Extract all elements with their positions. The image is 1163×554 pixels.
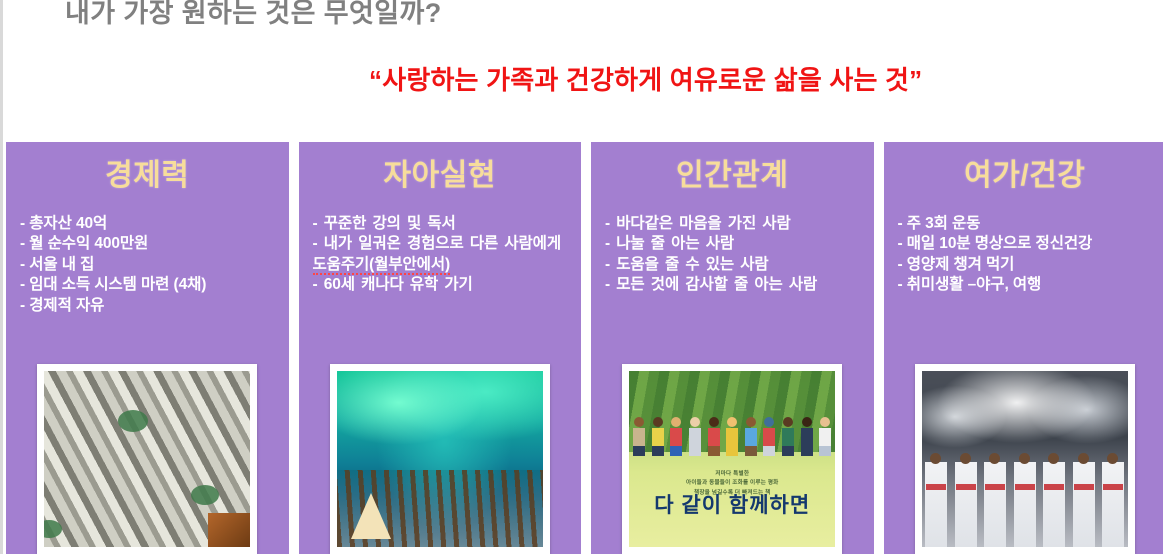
list-item: - 월 순수익 400만원 [20, 234, 279, 255]
list-item: - 나눌 줄 아는 사람 [605, 234, 864, 255]
panel-title-finance: 경제력 [6, 160, 289, 192]
list-item: - 바다같은 마음을 가진 사람 [605, 214, 864, 235]
list-item: - 경제적 자유 [20, 296, 279, 317]
book-blurb-line: 저마다 특별한 [629, 470, 835, 480]
goal-panel-self-actualization[interactable]: 자아실현 - 꾸준한 강의 및 독서 - 내가 일궈온 경험으로 다른 사람에게… [299, 142, 582, 554]
childrens-book-cover-photo: 저마다 특별한 아이들과 동물들이 조화를 이루는 평화 책장을 넘길수록 더 … [629, 371, 835, 547]
book-children-art [633, 410, 831, 456]
panel-title-relationships: 인간관계 [591, 160, 874, 192]
list-item: - 취미생활 –야구, 여행 [898, 275, 1157, 296]
photo-frame-relationships[interactable]: 저마다 특별한 아이들과 동물들이 조화를 이루는 평화 책장을 넘길수록 더 … [622, 364, 842, 554]
goal-panel-leisure-health[interactable]: 여가/건강 - 주 3회 운동 - 매일 10분 명상으로 정신건강 - 영양제… [884, 142, 1163, 554]
aurora-borealis-photo [337, 371, 543, 547]
goal-panel-relationships[interactable]: 인간관계 - 바다같은 마음을 가진 사람 - 나눌 줄 아는 사람 - 도움을… [591, 142, 874, 554]
photo-frame-finance[interactable] [37, 364, 257, 554]
book-blurb-line: 아이들과 동물들이 조화를 이루는 평화 [629, 479, 835, 489]
baseball-players-art [922, 438, 1128, 547]
photo-frame-leisure-health[interactable] [915, 364, 1135, 554]
list-item: - 매일 10분 명상으로 정신건강 [898, 234, 1157, 255]
stack-of-dollar-bills-photo [44, 371, 250, 547]
baseball-team-celebration-photo [922, 371, 1128, 547]
panel-body-finance: - 총자산 40억 - 월 순수익 400만원 - 서울 내 집 - 임대 소득… [20, 214, 279, 317]
panel-body-relationships: - 바다같은 마음을 가진 사람 - 나눌 줄 아는 사람 - 도움을 줄 수 … [605, 214, 864, 296]
slide-header: 내가 가장 원하는 것은 무엇일까? “사랑하는 가족과 건강하게 여유로운 삶… [3, 0, 1163, 142]
slide-quote: “사랑하는 가족과 건강하게 여유로운 삶을 사는 것” [369, 60, 922, 97]
photo-frame-self-actualization[interactable] [330, 364, 550, 554]
panel-body-leisure-health: - 주 3회 운동 - 매일 10분 명상으로 정신건강 - 영양제 챙겨 먹기… [898, 214, 1157, 296]
goal-panel-finance[interactable]: 경제력 - 총자산 40억 - 월 순수익 400만원 - 서울 내 집 - 임… [6, 142, 289, 554]
list-item: - 도움을 줄 수 있는 사람 [605, 255, 864, 276]
page-title: 내가 가장 원하는 것은 무엇일까? [65, 0, 442, 30]
book-cover-title: 다 같이 함께하면 [629, 489, 835, 519]
list-item-spellchecked: - 내가 일궈온 경험으로 다른 사람에게 도움주기(월부안에서) [313, 234, 572, 275]
panel-body-self-actualization: - 꾸준한 강의 및 독서 - 내가 일궈온 경험으로 다른 사람에게 도움주기… [313, 214, 572, 296]
spellcheck-underline: 도움주기(월부안에서) [313, 256, 451, 275]
list-item-text: - 내가 일궈온 경험으로 다른 사람에게 도움주기(월부안에서) [313, 235, 562, 275]
list-item: - 임대 소득 시스템 마련 (4채) [20, 275, 279, 296]
list-item: - 꾸준한 강의 및 독서 [313, 214, 572, 235]
goal-columns: 경제력 - 총자산 40억 - 월 순수익 400만원 - 서울 내 집 - 임… [6, 142, 1163, 554]
list-item: - 영양제 챙겨 먹기 [898, 255, 1157, 276]
list-item: - 총자산 40억 [20, 214, 279, 235]
panel-title-self-actualization: 자아실현 [299, 160, 582, 192]
list-item: - 모든 것에 감사할 줄 아는 사람 [605, 275, 864, 296]
list-item: - 주 3회 운동 [898, 214, 1157, 235]
list-item: - 서울 내 집 [20, 255, 279, 276]
panel-title-leisure-health: 여가/건강 [884, 160, 1163, 192]
slide-canvas: 내가 가장 원하는 것은 무엇일까? “사랑하는 가족과 건강하게 여유로운 삶… [0, 0, 1163, 554]
list-item: - 60세 캐나다 유학 가기 [313, 275, 572, 296]
